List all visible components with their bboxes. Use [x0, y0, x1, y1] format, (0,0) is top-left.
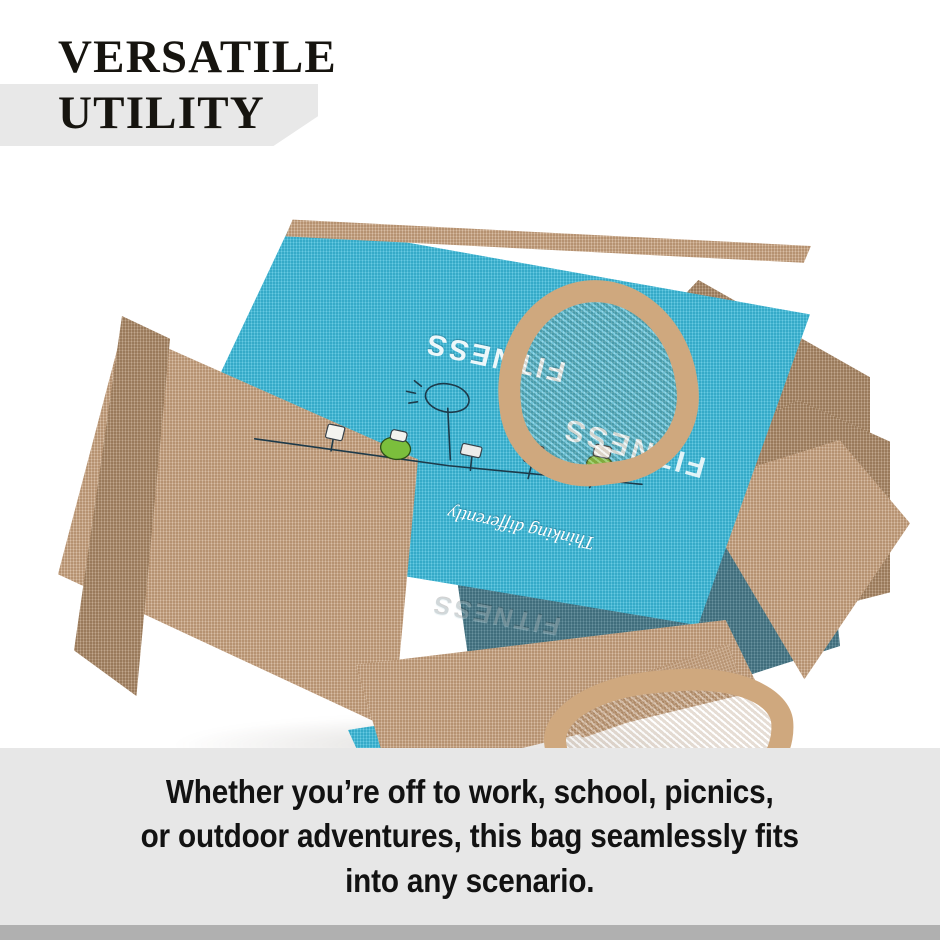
- footer-bar: [0, 925, 940, 940]
- caption-band: Whether you’re off to work, school, picn…: [0, 748, 940, 925]
- promo-canvas: VERSATILE UTILITY Thinking differently: [0, 0, 940, 940]
- product-photo: Thinking differently: [0, 130, 940, 750]
- caption-line-3: into any scenario.: [141, 859, 799, 903]
- bag-left-edge-trim: [50, 316, 170, 696]
- caption-line-2: or outdoor adventures, this bag seamless…: [141, 814, 799, 858]
- headline-block: VERSATILE UTILITY: [0, 28, 520, 158]
- caption-line-1: Whether you’re off to work, school, picn…: [141, 770, 799, 814]
- headline-line-2: UTILITY: [58, 90, 265, 137]
- caption-text: Whether you’re off to work, school, picn…: [141, 770, 799, 903]
- headline-line-1: VERSATILE: [58, 34, 337, 81]
